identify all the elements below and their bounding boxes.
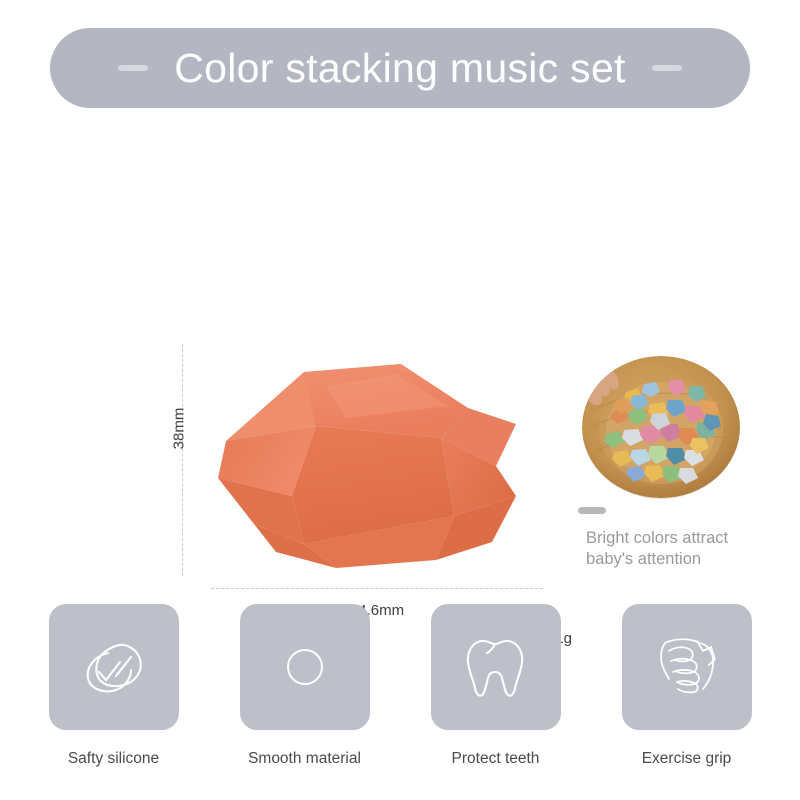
bowl-caption-line-1: Bright colors attract [586,528,786,549]
feature-item-smooth-material: Smooth material [240,604,370,768]
feature-tile [49,604,179,730]
tooth-icon [457,631,535,703]
feature-list: Safty silicone Smooth material Protect t… [0,604,800,768]
feature-tile [240,604,370,730]
feature-tile [622,604,752,730]
feature-label: Exercise grip [642,750,732,768]
height-dimension-label: 38mm [171,389,188,469]
leaf-check-icon [75,632,153,702]
feature-label: Smooth material [248,750,361,768]
feature-item-exercise-grip: Exercise grip [622,604,752,768]
feature-label: Protect teeth [452,750,540,768]
bowl-caption-line-2: baby's attention [586,549,786,570]
feature-item-protect-teeth: Protect teeth [431,604,561,768]
page-title: Color stacking music set [174,48,626,89]
product-showcase: 38mm 24.6mm weight:8.1g [0,150,800,550]
circle-icon [266,632,344,702]
product-bead-image [196,346,544,586]
bowl-caption: Bright colors attract baby's attention [586,528,786,569]
bowl-scene [582,356,740,499]
feature-label: Safty silicone [68,750,159,768]
width-dimension-line [211,588,543,589]
banner-dash-right-icon [652,65,682,71]
banner-dash-left-icon [118,65,148,71]
colorful-beads-bowl-image [582,356,740,499]
caption-dash-icon [578,507,606,514]
header-banner: Color stacking music set [50,28,750,108]
feature-item-safty-silicone: Safty silicone [49,604,179,768]
grip-hand-icon [647,631,727,703]
feature-tile [431,604,561,730]
